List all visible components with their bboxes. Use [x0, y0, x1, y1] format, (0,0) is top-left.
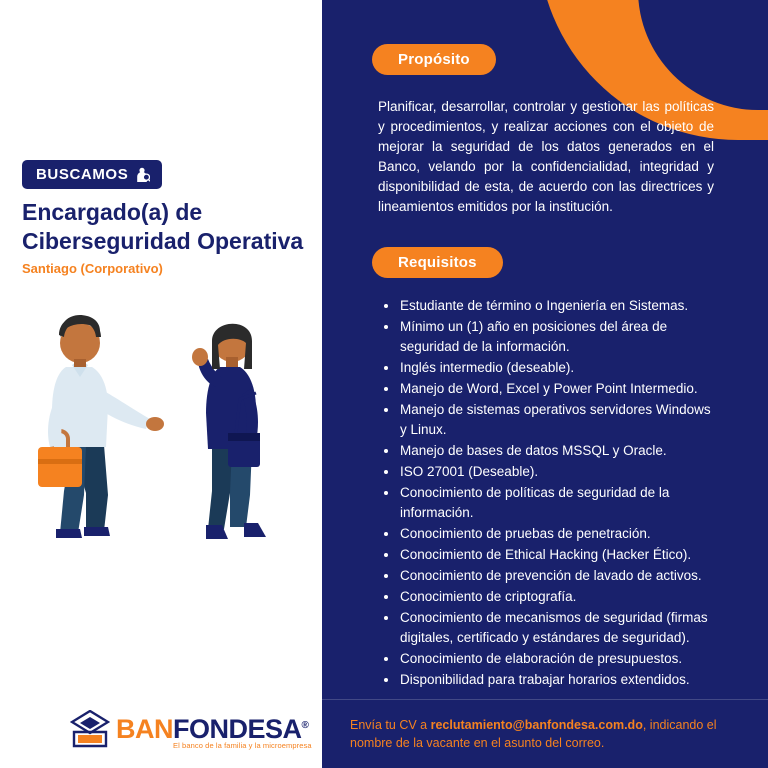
footer-contact-text: Envía tu CV a reclutamiento@banfondesa.c…: [322, 700, 768, 752]
purpose-pill-wrap: Propósito: [372, 44, 740, 75]
two-people-illustration: [0, 295, 322, 555]
requirement-item: ISO 27001 (Deseable).: [384, 462, 718, 482]
requirement-item: Conocimiento de mecanismos de seguridad …: [384, 608, 718, 648]
footer-bar: Envía tu CV a reclutamiento@banfondesa.c…: [322, 699, 768, 768]
banfondesa-logo: BANFONDESA® El banco de la familia y la …: [70, 710, 285, 754]
poster-root: BUSCAMOS Encargado(a) de Ciberseguridad …: [0, 0, 768, 768]
requirement-item: Estudiante de término o Ingeniería en Si…: [384, 296, 718, 316]
requirement-item: Manejo de sistemas operativos servidores…: [384, 400, 718, 440]
requirements-list: Estudiante de término o Ingeniería en Si…: [384, 296, 718, 690]
buscamos-badge: BUSCAMOS: [22, 160, 162, 189]
requirements-pill-wrap: Requisitos: [372, 247, 740, 278]
requirement-item: Disponibilidad para trabajar horarios ex…: [384, 670, 718, 690]
right-content: Propósito Planificar, desarrollar, contr…: [322, 44, 768, 690]
logo-word-fondesa: FONDESA: [173, 714, 302, 744]
requirement-item: Manejo de bases de datos MSSQL y Oracle.: [384, 441, 718, 461]
requirement-item: Conocimiento de criptografía.: [384, 587, 718, 607]
logo-registered-mark: ®: [302, 720, 309, 731]
requirement-item: Conocimiento de Ethical Hacking (Hacker …: [384, 545, 718, 565]
right-panel: Propósito Planificar, desarrollar, contr…: [322, 0, 768, 768]
purpose-pill: Propósito: [372, 44, 496, 75]
requirement-item: Conocimiento de elaboración de presupues…: [384, 649, 718, 669]
requirement-item: Mínimo un (1) año en posiciones del área…: [384, 317, 718, 357]
requirement-item: Conocimiento de políticas de seguridad d…: [384, 483, 718, 523]
footer-pre: Envía tu CV a: [350, 718, 431, 732]
footer-email[interactable]: reclutamiento@banfondesa.com.do: [431, 718, 643, 732]
requirement-item: Conocimiento de pruebas de penetración.: [384, 524, 718, 544]
requirement-item: Manejo de Word, Excel y Power Point Inte…: [384, 379, 718, 399]
requirement-item: Conocimiento de prevención de lavado de …: [384, 566, 718, 586]
person-search-icon: [136, 167, 150, 183]
left-panel: BUSCAMOS Encargado(a) de Ciberseguridad …: [0, 0, 322, 768]
job-title: Encargado(a) de Ciberseguridad Operativa: [22, 198, 322, 256]
purpose-text: Planificar, desarrollar, controlar y ges…: [378, 97, 714, 217]
banfondesa-diamond-logo: [70, 710, 110, 748]
logo-word-ban: BAN: [116, 714, 173, 744]
job-location: Santiago (Corporativo): [22, 261, 163, 276]
buscamos-label: BUSCAMOS: [36, 166, 128, 183]
requirement-item: Inglés intermedio (deseable).: [384, 358, 718, 378]
requirements-pill: Requisitos: [372, 247, 503, 278]
logo-tagline: El banco de la familia y la microempresa: [173, 741, 312, 750]
